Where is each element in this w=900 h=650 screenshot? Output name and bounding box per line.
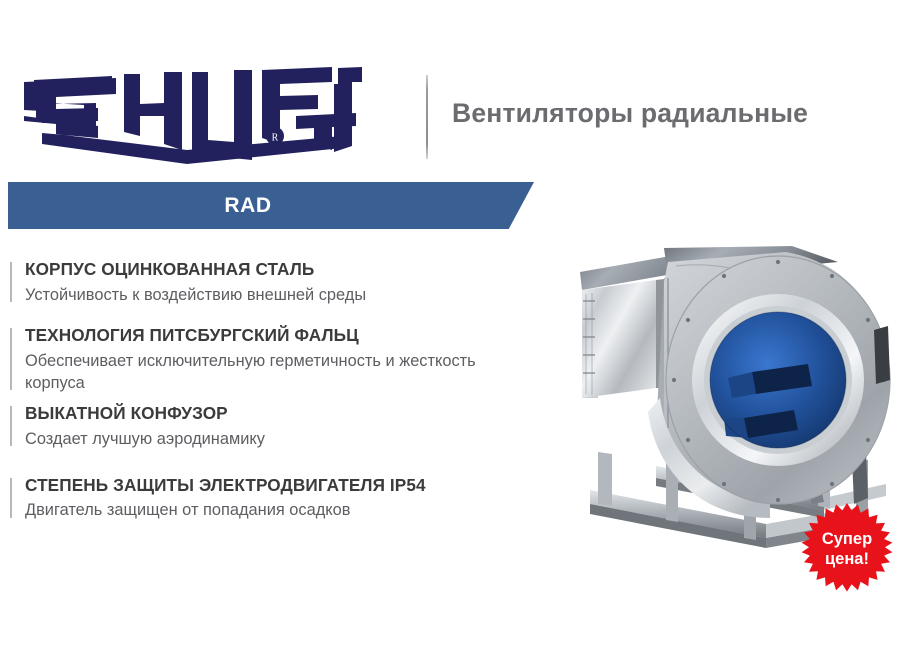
promo-page: R Вентиляторы радиальные RAD КОРПУС ОЦИН…	[0, 0, 900, 650]
feature-title: ВЫКАТНОЙ КОНФУЗОР	[25, 402, 555, 425]
feature-item: ВЫКАТНОЙ КОНФУЗОР Создает лучшую аэродин…	[10, 402, 555, 450]
svg-text:R: R	[272, 133, 279, 144]
header-divider	[426, 75, 428, 159]
price-badge[interactable]: Супер цена!	[799, 501, 895, 597]
feature-description: Устойчивость к воздействию внешней среды	[25, 284, 535, 306]
feature-rule	[10, 328, 12, 390]
feature-title: СТЕПЕНЬ ЗАЩИТЫ ЭЛЕКТРОДВИГАТЕЛЯ IP54	[25, 474, 555, 497]
feature-description: Создает лучшую аэродинамику	[25, 428, 535, 450]
feature-title: КОРПУС ОЦИНКОВАННАЯ СТАЛЬ	[25, 258, 555, 281]
feature-rule	[10, 262, 12, 302]
feature-title: ТЕХНОЛОГИЯ ПИТСБУРГСКИЙ ФАЛЬЦ	[25, 324, 555, 347]
page-title: Вентиляторы радиальные	[452, 98, 808, 129]
shuft-logo-svg: R	[12, 64, 362, 164]
feature-item: ТЕХНОЛОГИЯ ПИТСБУРГСКИЙ ФАЛЬЦ Обеспечива…	[10, 324, 555, 394]
feature-item: КОРПУС ОЦИНКОВАННАЯ СТАЛЬ Устойчивость к…	[10, 258, 555, 306]
feature-description: Обеспечивает исключительную герметичност…	[25, 350, 535, 394]
feature-rule	[10, 406, 12, 446]
shuft-logo: R	[12, 64, 362, 164]
starburst-icon	[799, 501, 895, 597]
feature-rule	[10, 478, 12, 518]
page-header: R Вентиляторы радиальные	[0, 58, 900, 168]
series-banner: RAD	[8, 182, 534, 229]
feature-description: Двигатель защищен от попадания осадков	[25, 499, 535, 521]
feature-item: СТЕПЕНЬ ЗАЩИТЫ ЭЛЕКТРОДВИГАТЕЛЯ IP54 Дви…	[10, 474, 555, 522]
series-banner-label: RAD	[8, 182, 488, 229]
feature-list: КОРПУС ОЦИНКОВАННАЯ СТАЛЬ Устойчивость к…	[10, 258, 555, 536]
fan-mount-tab	[874, 326, 890, 384]
